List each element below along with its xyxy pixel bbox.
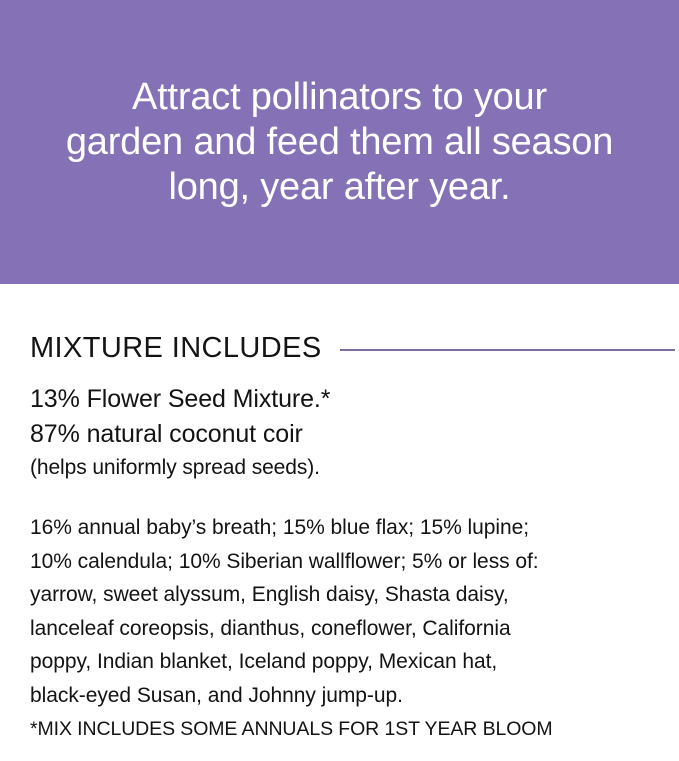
hero-headline: Attract pollinators to your garden and f… [40, 75, 640, 210]
mixture-includes-header: MIXTURE INCLUDES [30, 332, 677, 364]
annuals-footnote: *MIX INCLUDES SOME ANNUALS FOR 1ST YEAR … [30, 714, 679, 744]
mixture-line-coir: 87% natural coconut coir [30, 417, 679, 452]
mixture-line-seed: 13% Flower Seed Mixture.* [30, 382, 679, 417]
content-area: MIXTURE INCLUDES 13% Flower Seed Mixture… [30, 284, 679, 744]
hero-banner: Attract pollinators to your garden and f… [0, 0, 679, 284]
product-info-panel: Attract pollinators to your garden and f… [0, 0, 679, 761]
section-title: MIXTURE INCLUDES [30, 332, 322, 364]
section-divider-rule [340, 349, 675, 351]
mixture-composition-list: 13% Flower Seed Mixture.* 87% natural co… [30, 382, 679, 483]
species-breakdown-paragraph: 16% annual baby’s breath; 15% blue flax;… [30, 511, 630, 712]
mixture-note: (helps uniformly spread seeds). [30, 452, 679, 483]
